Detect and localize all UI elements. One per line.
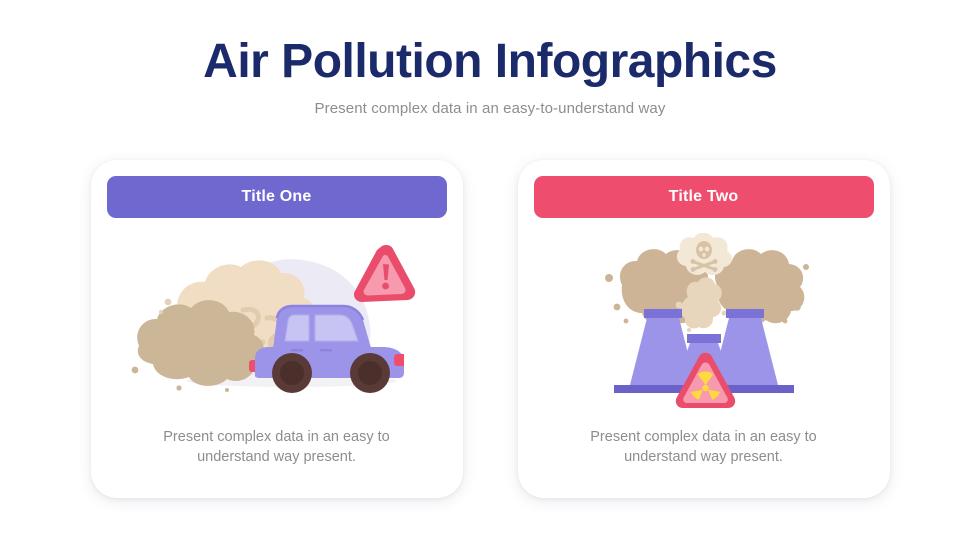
card-two-body: Present complex data in an easy to under…	[554, 427, 854, 480]
slide-root: Air Pollution Infographics Present compl…	[0, 0, 980, 551]
factory-smokestack-pollution-icon	[588, 233, 820, 411]
card-one-title: Title One	[242, 188, 312, 206]
car-exhaust-pollution-icon	[127, 240, 427, 405]
card-two-title: Title Two	[669, 188, 739, 206]
card-one-illustration	[107, 218, 447, 427]
page-title: Air Pollution Infographics	[0, 36, 980, 89]
page-subtitle: Present complex data in an easy-to-under…	[0, 100, 980, 117]
card-one[interactable]: Title One	[91, 160, 463, 498]
card-two-illustration	[534, 218, 874, 427]
card-one-header: Title One	[107, 176, 447, 218]
cards-row: Title One	[0, 160, 980, 498]
card-one-body: Present complex data in an easy to under…	[127, 427, 427, 480]
card-two[interactable]: Title Two	[518, 160, 890, 498]
slide-header: Air Pollution Infographics Present compl…	[0, 0, 980, 117]
card-two-header: Title Two	[534, 176, 874, 218]
